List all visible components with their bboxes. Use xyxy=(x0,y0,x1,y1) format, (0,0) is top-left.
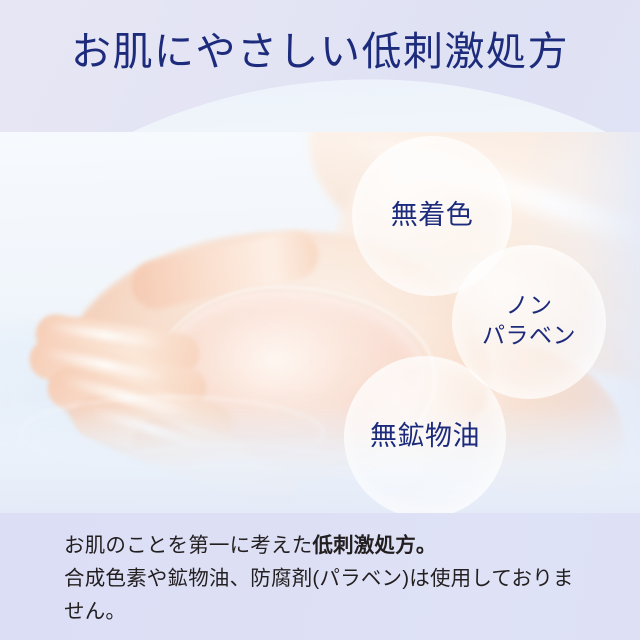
footer-description: お肌のことを第一に考えた低刺激処方。 合成色素や鉱物油、防腐剤(パラベン)は使用… xyxy=(64,529,584,628)
footer-band: お肌のことを第一に考えた低刺激処方。 合成色素や鉱物油、防腐剤(パラベン)は使用… xyxy=(0,513,640,640)
page-title-text: お肌にやさしい低刺激処方 xyxy=(71,32,569,72)
feature-bubble-no-mineral-oil: 無鉱物油 xyxy=(344,356,506,518)
feature-bubble-label: 無鉱物油 xyxy=(370,419,480,454)
feature-bubble-label-line2: パラベン xyxy=(482,323,576,349)
header-band: お肌にやさしい低刺激処方 xyxy=(0,0,640,132)
footer-line-1: お肌のことを第一に考えた低刺激処方。 xyxy=(64,529,584,562)
skin-care-promo-banner: お肌にやさしい低刺激処方 無着色 ノン パラベン 無鉱物油 お肌のことを第一に考… xyxy=(0,0,640,640)
photo-bottom-fade xyxy=(0,406,640,516)
feature-bubble-label: 無着色 xyxy=(391,198,474,233)
footer-line-2: 合成色素や鉱物油、防腐剤(パラベン)は使用しておりません。 xyxy=(64,562,584,628)
page-title: お肌にやさしい低刺激処方 xyxy=(0,0,640,104)
footer-line-1-plain: お肌のことを第一に考えた xyxy=(64,534,312,557)
feature-bubble-label-line1: ノン xyxy=(506,293,553,319)
footer-line-1-emphasis: 低刺激処方。 xyxy=(312,534,436,557)
feature-bubble-label: ノン パラベン xyxy=(482,292,576,352)
